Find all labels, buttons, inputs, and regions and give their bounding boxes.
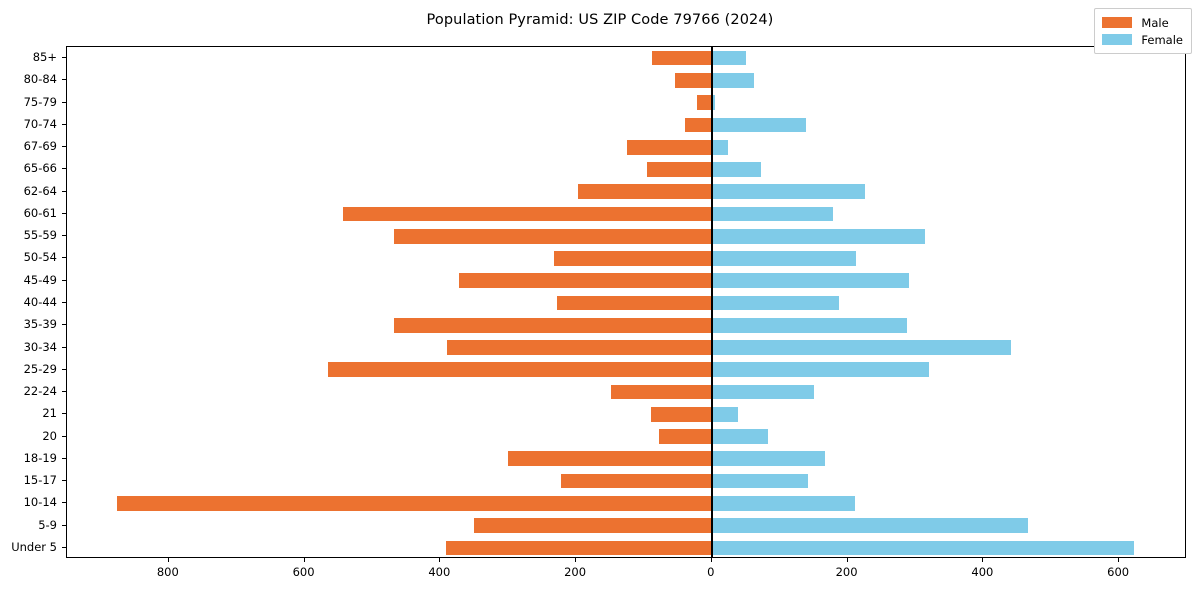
x-axis-tick-label: 800: [157, 565, 179, 579]
bar-female: [712, 273, 909, 288]
bar-male: [447, 340, 712, 355]
bar-row: [67, 273, 1185, 288]
y-axis-tick-label: 40-44: [0, 295, 57, 309]
bar-row: [67, 518, 1185, 533]
bar-row: [67, 184, 1185, 199]
y-axis-tick-label: 55-59: [0, 228, 57, 242]
bar-male: [627, 140, 712, 155]
y-axis-tick-label: 25-29: [0, 362, 57, 376]
legend-entry: Male: [1102, 14, 1183, 31]
bar-female: [712, 229, 925, 244]
y-axis-tick-label: 45-49: [0, 273, 57, 287]
x-axis-tick: [304, 558, 305, 562]
chart-figure: Population Pyramid: US ZIP Code 79766 (2…: [0, 0, 1200, 600]
y-axis-tick-label: 67-69: [0, 139, 57, 153]
bar-row: [67, 340, 1185, 355]
bar-row: [67, 385, 1185, 400]
bar-male: [697, 95, 712, 110]
y-axis-tick: [62, 257, 66, 258]
bar-male: [343, 207, 712, 222]
bar-female: [712, 518, 1028, 533]
bar-female: [712, 362, 929, 377]
y-axis-tick: [62, 369, 66, 370]
y-axis-tick: [62, 280, 66, 281]
y-axis-tick: [62, 191, 66, 192]
y-axis-tick-label: 21: [0, 406, 57, 420]
bar-row: [67, 73, 1185, 88]
y-axis-tick-label: 80-84: [0, 72, 57, 86]
bar-row: [67, 51, 1185, 66]
bar-male: [508, 451, 712, 466]
y-axis-tick: [62, 102, 66, 103]
y-axis-tick-label: 60-61: [0, 206, 57, 220]
bars-layer: [67, 47, 1185, 557]
y-axis-tick-label: 62-64: [0, 184, 57, 198]
bar-male: [561, 474, 712, 489]
bar-row: [67, 541, 1185, 556]
x-axis-tick: [847, 558, 848, 562]
bar-row: [67, 496, 1185, 511]
y-axis-tick: [62, 57, 66, 58]
bar-row: [67, 140, 1185, 155]
y-axis-tick: [62, 502, 66, 503]
y-axis-tick: [62, 324, 66, 325]
bar-row: [67, 95, 1185, 110]
bar-female: [712, 207, 833, 222]
bar-female: [712, 429, 768, 444]
x-axis-tick-label: 600: [1107, 565, 1129, 579]
y-axis-tick: [62, 547, 66, 548]
x-axis-tick-label: 200: [564, 565, 586, 579]
bar-row: [67, 362, 1185, 377]
bar-female: [712, 251, 857, 266]
y-axis-tick: [62, 458, 66, 459]
bar-female: [712, 474, 808, 489]
bar-female: [712, 296, 840, 311]
bar-row: [67, 207, 1185, 222]
bar-row: [67, 451, 1185, 466]
plot-area: [66, 46, 1186, 558]
x-axis-tick: [982, 558, 983, 562]
x-axis-tick: [168, 558, 169, 562]
bar-male: [675, 73, 712, 88]
bar-male: [554, 251, 712, 266]
bar-male: [446, 541, 712, 556]
x-axis-tick-label: 400: [428, 565, 450, 579]
bar-row: [67, 229, 1185, 244]
chart-title: Population Pyramid: US ZIP Code 79766 (2…: [0, 12, 1200, 28]
y-axis-tick: [62, 391, 66, 392]
y-axis-tick: [62, 525, 66, 526]
y-axis-tick-label: 5-9: [0, 518, 57, 532]
legend-label: Male: [1141, 16, 1168, 30]
bar-row: [67, 474, 1185, 489]
bar-male: [685, 118, 712, 133]
bar-male: [651, 407, 712, 422]
y-axis-tick: [62, 413, 66, 414]
bar-row: [67, 318, 1185, 333]
bar-female: [712, 340, 1011, 355]
x-axis-tick-label: 200: [836, 565, 858, 579]
bar-female: [712, 385, 814, 400]
bar-male: [394, 229, 712, 244]
bar-male: [611, 385, 711, 400]
y-axis-tick-label: 85+: [0, 50, 57, 64]
legend-swatch-icon: [1102, 34, 1132, 45]
y-axis-tick-label: 75-79: [0, 95, 57, 109]
bar-row: [67, 118, 1185, 133]
x-axis-tick: [575, 558, 576, 562]
bar-row: [67, 296, 1185, 311]
bar-female: [712, 318, 907, 333]
bar-male: [459, 273, 712, 288]
bar-female: [712, 407, 738, 422]
y-axis-tick-label: 65-66: [0, 161, 57, 175]
bar-female: [712, 162, 761, 177]
y-axis-tick: [62, 347, 66, 348]
bar-female: [712, 140, 728, 155]
y-axis-tick: [62, 436, 66, 437]
zero-axis-line: [711, 47, 712, 557]
y-axis-tick: [62, 124, 66, 125]
bar-male: [557, 296, 712, 311]
bar-row: [67, 429, 1185, 444]
legend-entry: Female: [1102, 31, 1183, 48]
y-axis-tick-label: 70-74: [0, 117, 57, 131]
x-axis-tick-label: 400: [971, 565, 993, 579]
x-axis-tick-label: 600: [293, 565, 315, 579]
bar-male: [328, 362, 712, 377]
bar-row: [67, 162, 1185, 177]
y-axis-tick-label: 35-39: [0, 317, 57, 331]
bar-female: [712, 496, 855, 511]
y-axis-tick-label: 30-34: [0, 340, 57, 354]
chart-legend: MaleFemale: [1094, 8, 1192, 54]
legend-swatch-icon: [1102, 17, 1132, 28]
bar-row: [67, 251, 1185, 266]
y-axis-tick: [62, 146, 66, 147]
y-axis-tick-label: 20: [0, 429, 57, 443]
bar-male: [578, 184, 712, 199]
y-axis-tick: [62, 302, 66, 303]
y-axis-tick-label: 18-19: [0, 451, 57, 465]
bar-female: [712, 451, 825, 466]
bar-male: [652, 51, 712, 66]
x-axis-tick: [1118, 558, 1119, 562]
legend-label: Female: [1141, 33, 1183, 47]
x-axis-tick: [711, 558, 712, 562]
y-axis-tick-label: 50-54: [0, 250, 57, 264]
x-axis-tick-label: 0: [707, 565, 714, 579]
bar-male: [647, 162, 712, 177]
y-axis-tick: [62, 213, 66, 214]
bar-male: [117, 496, 712, 511]
x-axis-tick: [439, 558, 440, 562]
y-axis-tick-label: 15-17: [0, 473, 57, 487]
bar-male: [659, 429, 712, 444]
bar-male: [474, 518, 712, 533]
y-axis-tick: [62, 79, 66, 80]
bar-female: [712, 541, 1134, 556]
bar-male: [394, 318, 712, 333]
y-axis-tick: [62, 235, 66, 236]
bar-female: [712, 73, 754, 88]
bar-female: [712, 51, 747, 66]
bar-female: [712, 184, 865, 199]
y-axis-tick: [62, 480, 66, 481]
y-axis-tick-label: 22-24: [0, 384, 57, 398]
y-axis-tick-label: 10-14: [0, 495, 57, 509]
bar-female: [712, 118, 806, 133]
y-axis-tick: [62, 168, 66, 169]
bar-row: [67, 407, 1185, 422]
y-axis-tick-label: Under 5: [0, 540, 57, 554]
